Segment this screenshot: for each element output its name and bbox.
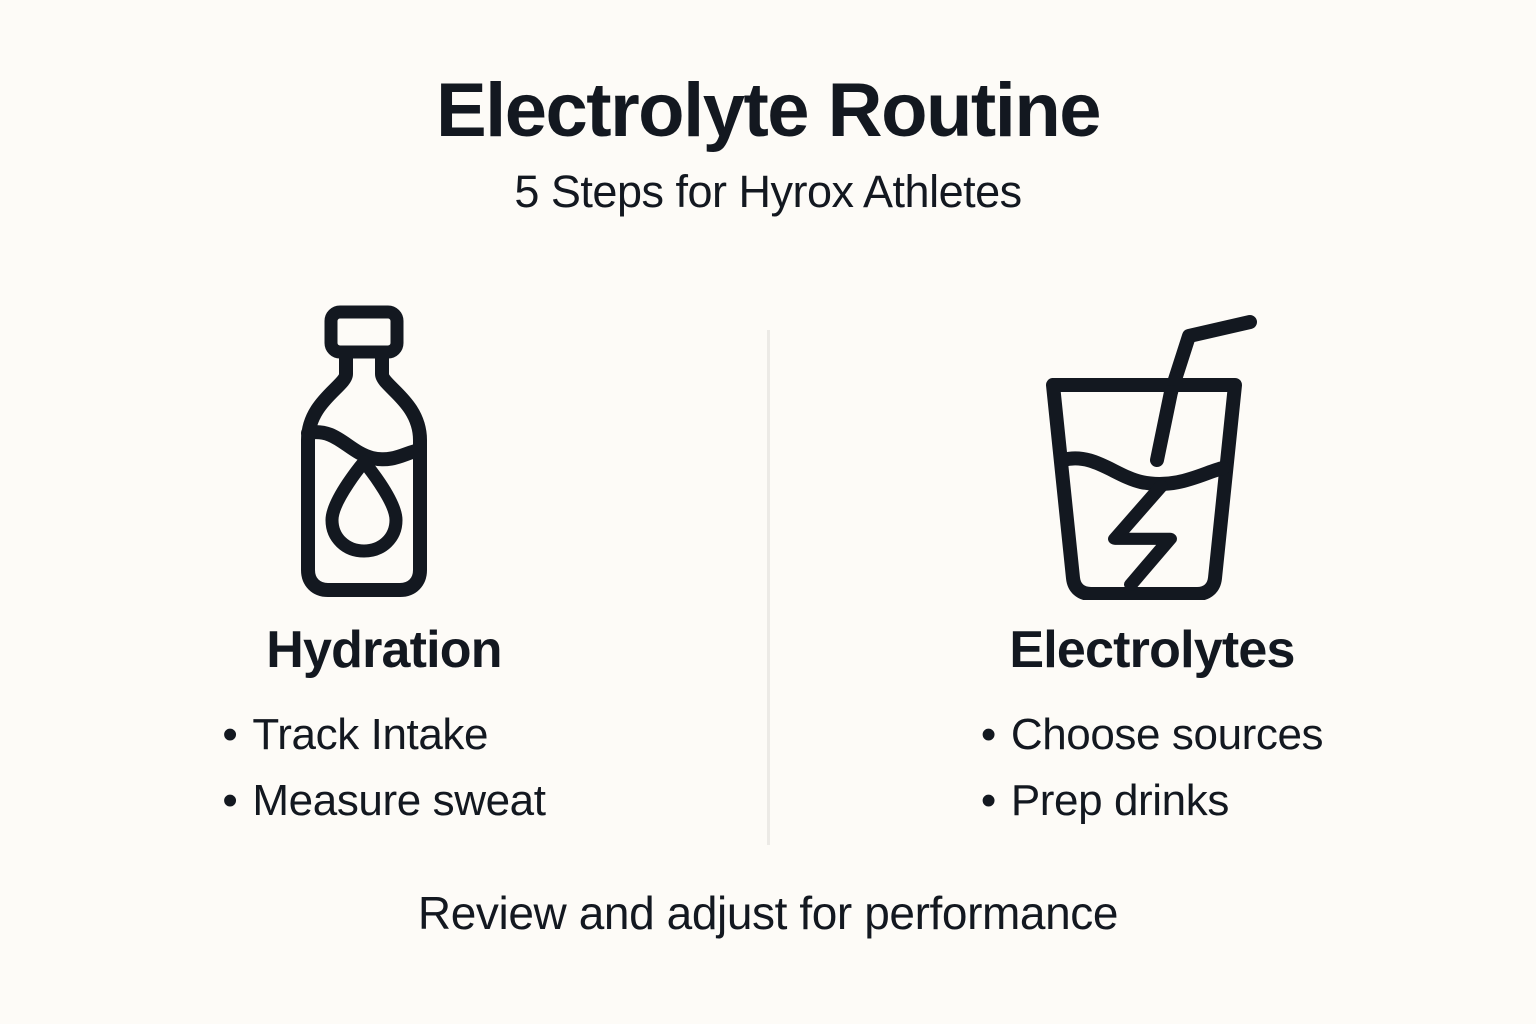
list-item-label: Measure sweat (252, 768, 545, 834)
column-heading-electrolytes: Electrolytes (1009, 624, 1294, 676)
column-heading-hydration: Hydration (266, 624, 501, 676)
list-item-label: Track Intake (252, 702, 488, 768)
list-item-label: Prep drinks (1011, 768, 1229, 834)
footer: Review and adjust for performance (0, 888, 1536, 939)
list-item: • Prep drinks (981, 768, 1323, 834)
bullet-dot-icon: • (981, 768, 1011, 834)
header: Electrolyte Routine 5 Steps for Hyrox At… (0, 72, 1536, 215)
footer-text: Review and adjust for performance (0, 888, 1536, 939)
list-item: • Choose sources (981, 702, 1323, 768)
column-hydration: Hydration • Track Intake • Measure sweat (0, 300, 768, 834)
bullet-dot-icon: • (222, 702, 252, 768)
page-title: Electrolyte Routine (0, 72, 1536, 150)
column-electrolytes: Electrolytes • Choose sources • Prep dri… (768, 300, 1536, 834)
list-item: • Track Intake (222, 702, 545, 768)
bullet-dot-icon: • (222, 768, 252, 834)
list-item: • Measure sweat (222, 768, 545, 834)
electrolyte-drink-glass-icon (1037, 300, 1267, 600)
infographic-canvas: Electrolyte Routine 5 Steps for Hyrox At… (0, 0, 1536, 1024)
list-item-label: Choose sources (1011, 702, 1323, 768)
columns-container: Hydration • Track Intake • Measure sweat (0, 300, 1536, 834)
bullet-list-hydration: • Track Intake • Measure sweat (222, 702, 545, 834)
bullet-dot-icon: • (981, 702, 1011, 768)
page-subtitle: 5 Steps for Hyrox Athletes (0, 168, 1536, 215)
water-bottle-icon (284, 300, 484, 600)
bullet-list-electrolytes: • Choose sources • Prep drinks (981, 702, 1323, 834)
